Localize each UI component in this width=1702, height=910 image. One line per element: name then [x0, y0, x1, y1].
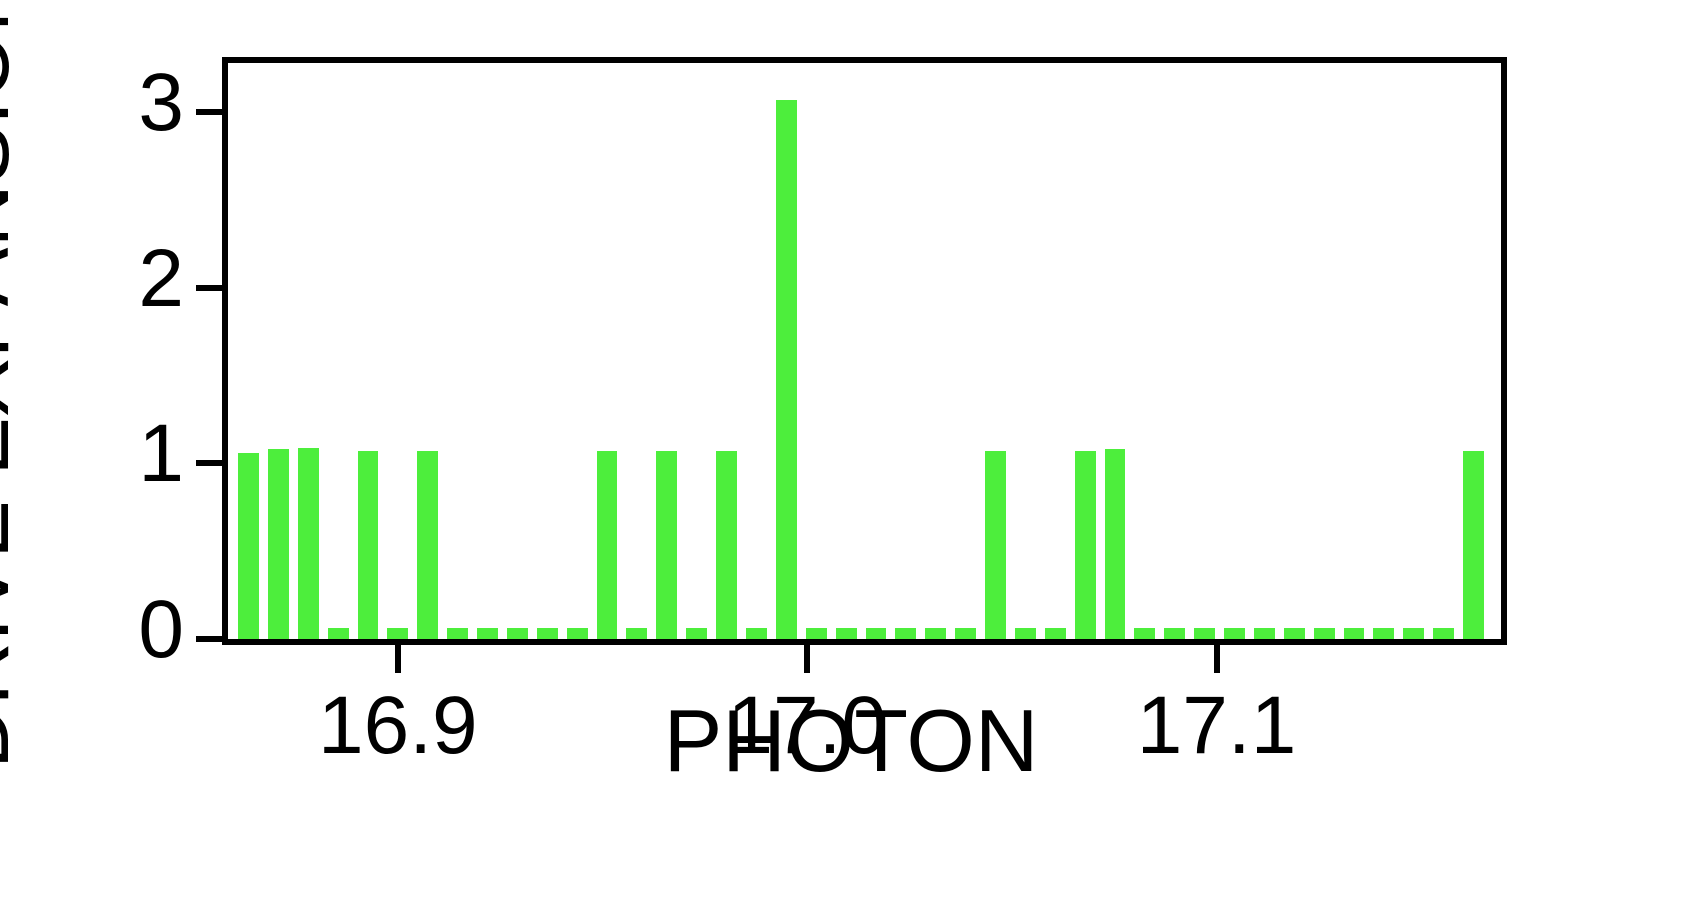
bar [387, 628, 408, 639]
x-tick-mark [395, 645, 401, 673]
bar [1433, 628, 1454, 639]
bar [328, 628, 349, 639]
chart-root: 0123 16.917.017.1 DRIVE EXPANSION PHOTON [0, 0, 1702, 910]
bar [447, 628, 468, 639]
x-tick-mark [1214, 645, 1220, 673]
bar [925, 628, 946, 639]
bar [686, 628, 707, 639]
bar [1373, 628, 1394, 639]
bar [1463, 451, 1484, 639]
bar [567, 628, 588, 639]
bar [537, 628, 558, 639]
bar [1284, 628, 1305, 639]
bar [806, 628, 827, 639]
bar [1045, 628, 1066, 639]
bar [1075, 451, 1096, 639]
y-tick-label: 0 [64, 583, 184, 677]
bar [776, 100, 797, 639]
bar [866, 628, 887, 639]
bar [1134, 628, 1155, 639]
y-tick-label: 3 [64, 56, 184, 150]
x-axis-label: PHOTON [0, 690, 1702, 792]
x-tick-mark [804, 645, 810, 673]
bar [1015, 628, 1036, 639]
bar [597, 451, 618, 639]
bar [1314, 628, 1335, 639]
bar [507, 628, 528, 639]
y-tick-mark [196, 636, 222, 642]
y-tick-mark [196, 109, 222, 115]
bar [1105, 449, 1126, 639]
bar [477, 628, 498, 639]
bar [955, 628, 976, 639]
y-tick-label: 2 [64, 232, 184, 326]
y-tick-mark [196, 460, 222, 466]
y-tick-label: 1 [64, 407, 184, 501]
bar [985, 451, 1006, 639]
bar [268, 449, 289, 639]
bar [1194, 628, 1215, 639]
bar [746, 628, 767, 639]
bar [417, 451, 438, 639]
bar [298, 448, 319, 639]
bar [238, 453, 259, 639]
bar [626, 628, 647, 639]
plot-frame [222, 57, 1507, 645]
bar [1403, 628, 1424, 639]
y-tick-mark [196, 285, 222, 291]
bar [1164, 628, 1185, 639]
bar [358, 451, 379, 639]
bar [1224, 628, 1245, 639]
bar [1344, 628, 1365, 639]
bar [836, 628, 857, 639]
bar [895, 628, 916, 639]
bar [716, 451, 737, 639]
bar [656, 451, 677, 639]
plot-area [228, 63, 1501, 639]
bar [1254, 628, 1275, 639]
